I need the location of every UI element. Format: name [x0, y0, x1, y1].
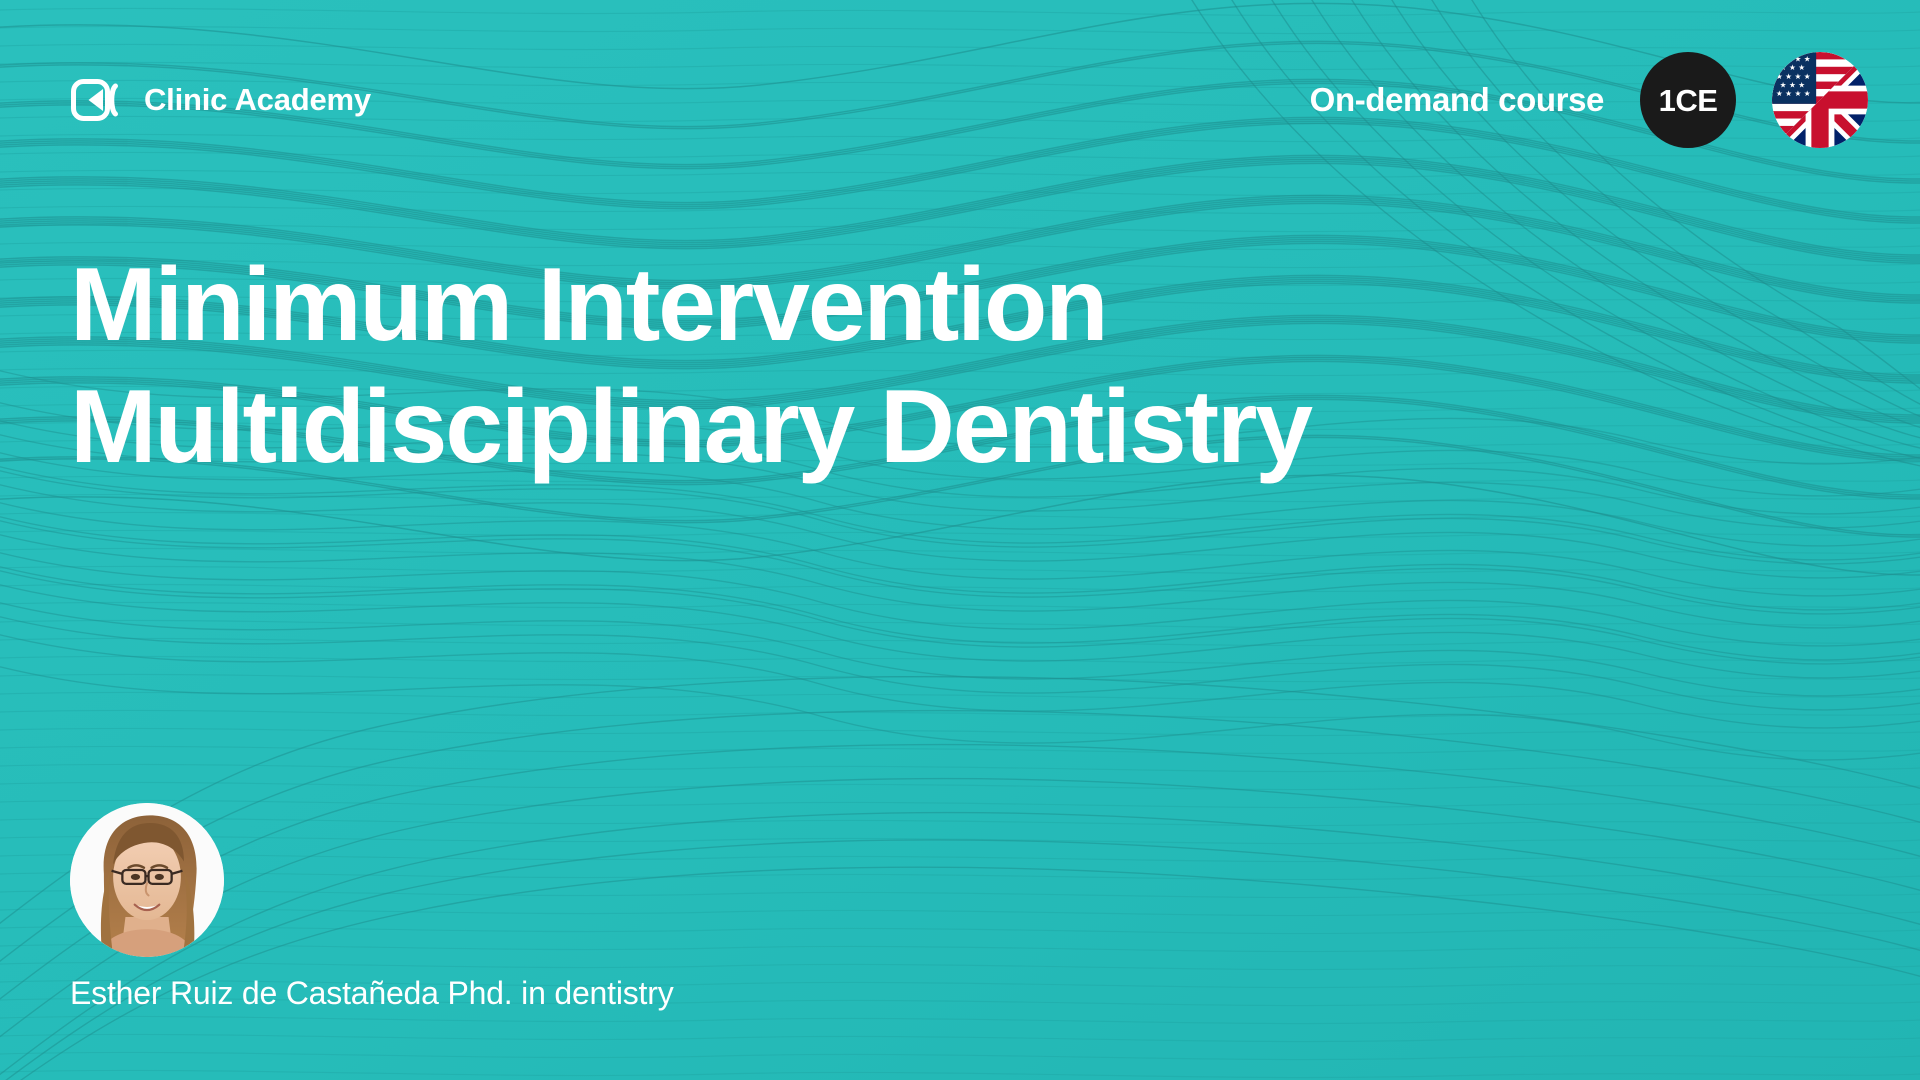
svg-text:★ ★ ★ ★: ★ ★ ★ ★ [1776, 55, 1811, 64]
course-type-label: On-demand course [1310, 81, 1604, 119]
video-camera-icon [70, 78, 126, 122]
us-uk-flag-icon: ★ ★ ★ ★ ★ ★ ★ ★ ★ ★ ★ ★ ★ ★ ★ ★ ★ ★ [1772, 52, 1868, 148]
course-promo-card: Clinic Academy On-demand course 1CE [0, 0, 1920, 1080]
brand-lockup[interactable]: Clinic Academy [70, 78, 371, 122]
svg-text:★ ★ ★: ★ ★ ★ [1780, 81, 1806, 90]
presenter-name: Esther Ruiz de Castañeda Phd. in dentist… [70, 975, 674, 1012]
credit-badge: 1CE [1640, 52, 1736, 148]
course-title-line-2: Multidisciplinary Dentistry [70, 367, 1570, 489]
credit-badge-label: 1CE [1659, 85, 1718, 116]
svg-text:★ ★ ★ ★: ★ ★ ★ ★ [1776, 89, 1811, 98]
course-title-line-1: Minimum Intervention [70, 245, 1570, 367]
presenter-block: Esther Ruiz de Castañeda Phd. in dentist… [70, 803, 674, 1012]
course-title: Minimum Intervention Multidisciplinary D… [70, 245, 1570, 488]
svg-text:★ ★ ★: ★ ★ ★ [1780, 63, 1806, 72]
presenter-avatar [70, 803, 224, 957]
header-meta-group: On-demand course 1CE [1310, 52, 1868, 148]
brand-name: Clinic Academy [144, 82, 371, 118]
svg-text:★ ★ ★ ★: ★ ★ ★ ★ [1776, 72, 1811, 81]
header-bar: Clinic Academy On-demand course 1CE [0, 0, 1920, 200]
